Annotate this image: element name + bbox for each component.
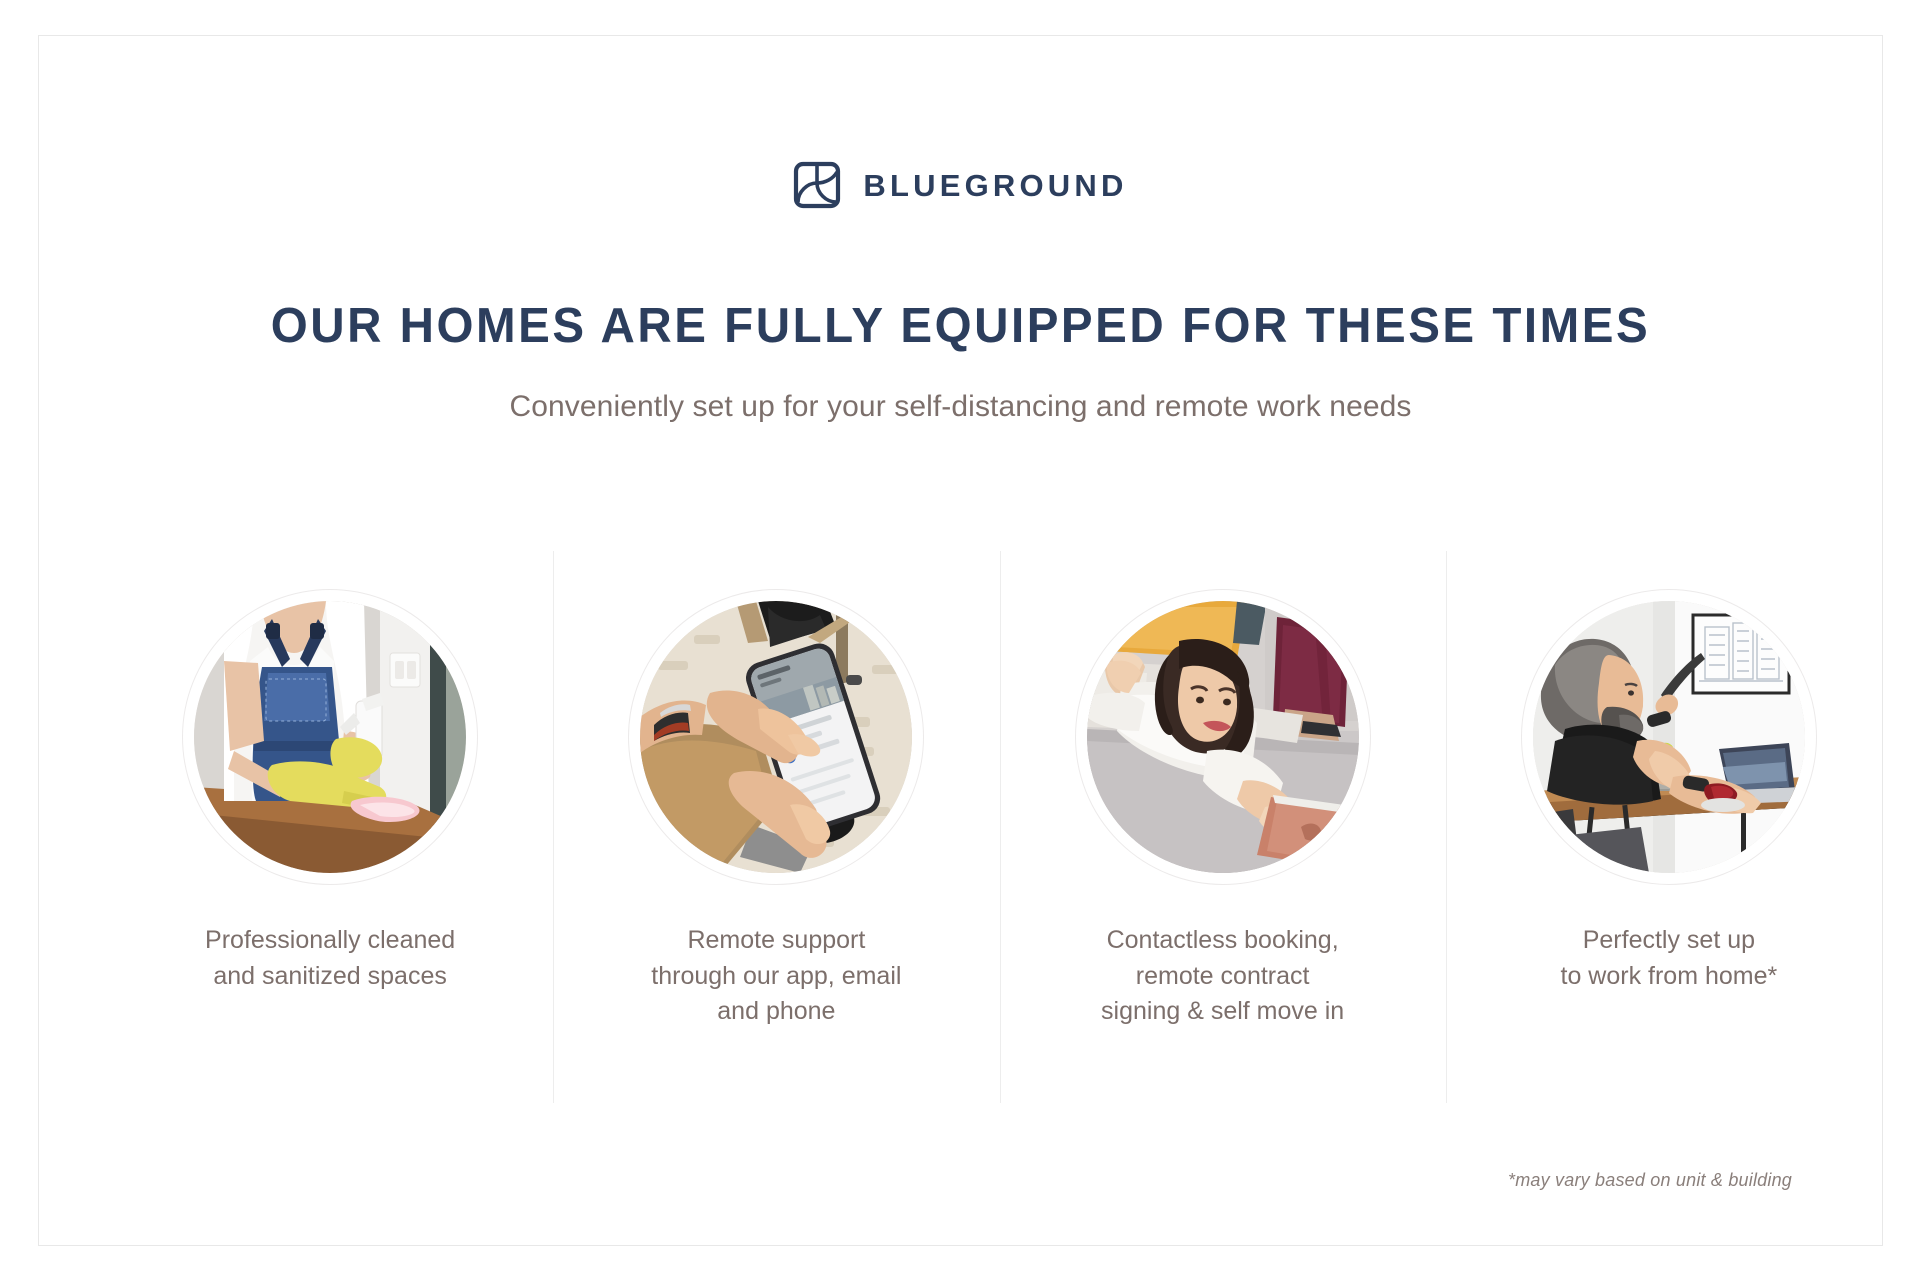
page-subtitle: Conveniently set up for your self-distan… [39, 390, 1882, 424]
caption-line: remote contract [1136, 962, 1310, 990]
feature-columns: Professionally cleaned and sanitized spa… [107, 551, 1892, 1103]
cleaning-person-photo [194, 601, 466, 873]
page-title: OUR HOMES ARE FULLY EQUIPPED FOR THESE T… [67, 298, 1855, 354]
infographic-page: BLUEGROUND OUR HOMES ARE FULLY EQUIPPED … [0, 0, 1920, 1280]
feature-column-work-from-home: Perfectly set up to work from home* [1446, 551, 1892, 1103]
caption-line: Contactless booking, [1107, 926, 1339, 954]
caption-line: Perfectly set up [1583, 926, 1755, 954]
caption-line: and sanitized spaces [213, 962, 446, 990]
caption-line: and phone [717, 997, 835, 1025]
feature-column-cleaning: Professionally cleaned and sanitized spa… [107, 551, 553, 1103]
footnote: *may vary based on unit & building [1508, 1170, 1792, 1191]
brand-lockup: BLUEGROUND [39, 161, 1882, 209]
tablet-booking-photo [1087, 601, 1359, 873]
photo-ring [182, 589, 478, 885]
work-from-home-photo [1533, 601, 1805, 873]
page-frame: BLUEGROUND OUR HOMES ARE FULLY EQUIPPED … [38, 35, 1883, 1246]
feature-caption: Professionally cleaned and sanitized spa… [165, 923, 495, 994]
feature-caption: Remote support through our app, email an… [611, 923, 941, 1030]
brand-name: BLUEGROUND [863, 170, 1127, 201]
caption-line: signing & self move in [1101, 997, 1344, 1025]
caption-line: Remote support [687, 926, 865, 954]
photo-ring [628, 589, 924, 885]
photo-ring [1075, 589, 1371, 885]
photo-ring [1521, 589, 1817, 885]
caption-line: through our app, email [651, 962, 901, 990]
feature-caption: Contactless booking, remote contract sig… [1058, 923, 1388, 1030]
smartphone-support-photo [640, 601, 912, 873]
caption-line: to work from home* [1561, 962, 1778, 990]
blueground-logo-icon [793, 161, 841, 209]
feature-column-remote-support: Remote support through our app, email an… [553, 551, 999, 1103]
feature-column-contactless-booking: Contactless booking, remote contract sig… [1000, 551, 1446, 1103]
feature-caption: Perfectly set up to work from home* [1504, 923, 1834, 994]
caption-line: Professionally cleaned [205, 926, 455, 954]
